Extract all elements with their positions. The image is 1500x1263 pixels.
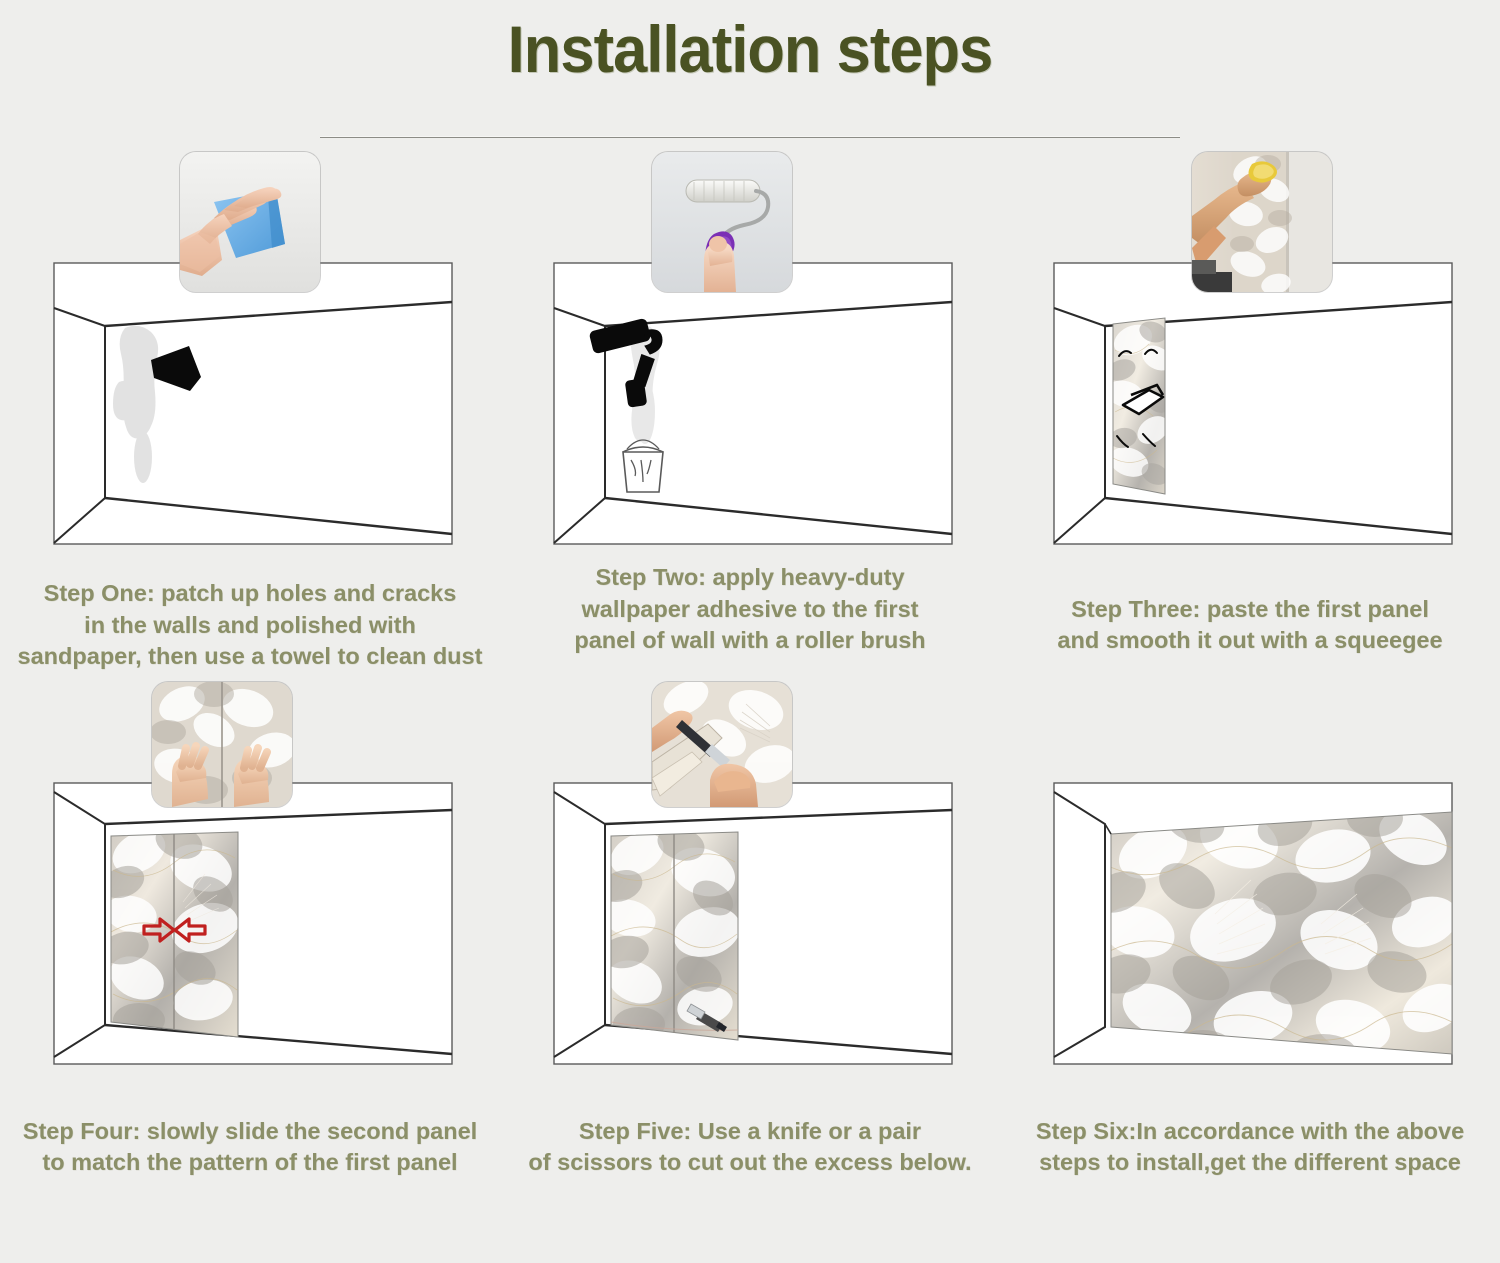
step-card-six: Step Six:In accordance with the above st… xyxy=(1000,682,1500,1212)
step-caption-four: Step Four: slowly slide the second panel… xyxy=(0,1116,500,1179)
room-diagram-step-four xyxy=(53,782,453,1065)
step-card-one: Step One: patch up holes and cracks in t… xyxy=(0,152,500,682)
step-card-five: Step Five: Use a knife or a pair of scis… xyxy=(500,682,1000,1212)
page-header: Installation steps xyxy=(0,0,1500,138)
step-caption-five: Step Five: Use a knife or a pair of scis… xyxy=(500,1116,1000,1179)
photo-hand-wiping-wall xyxy=(180,152,320,292)
step-card-two: Step Two: apply heavy-duty wallpaper adh… xyxy=(500,152,1000,682)
room-diagram-step-three xyxy=(1053,262,1453,545)
room-diagram-step-one xyxy=(53,262,453,545)
paint-bucket-icon xyxy=(623,440,663,492)
installation-steps-grid: Step One: patch up holes and cracks in t… xyxy=(0,152,1500,1212)
photo-two-hands-smoothing xyxy=(152,682,292,807)
photo-paint-roller xyxy=(652,152,792,292)
photo-squeegee-wallpaper xyxy=(1192,152,1332,292)
wallpaper-panels xyxy=(595,822,746,1045)
page-title: Installation steps xyxy=(53,0,1448,82)
step-caption-three: Step Three: paste the first panel and sm… xyxy=(1000,594,1500,657)
step-card-three: Step Three: paste the first panel and sm… xyxy=(1000,152,1500,682)
room-diagram-step-five xyxy=(553,782,953,1065)
step-caption-one: Step One: patch up holes and cracks in t… xyxy=(0,578,500,672)
step-card-four: Step Four: slowly slide the second panel… xyxy=(0,682,500,1212)
wallpaper-full-wall xyxy=(1086,795,1453,1065)
step-caption-six: Step Six:In accordance with the above st… xyxy=(1000,1116,1500,1179)
room-diagram-step-two xyxy=(553,262,953,545)
title-divider xyxy=(320,136,1180,138)
room-diagram-step-six xyxy=(1053,782,1453,1065)
step-caption-two: Step Two: apply heavy-duty wallpaper adh… xyxy=(500,562,1000,656)
photo-cutting-with-knife xyxy=(652,682,792,807)
